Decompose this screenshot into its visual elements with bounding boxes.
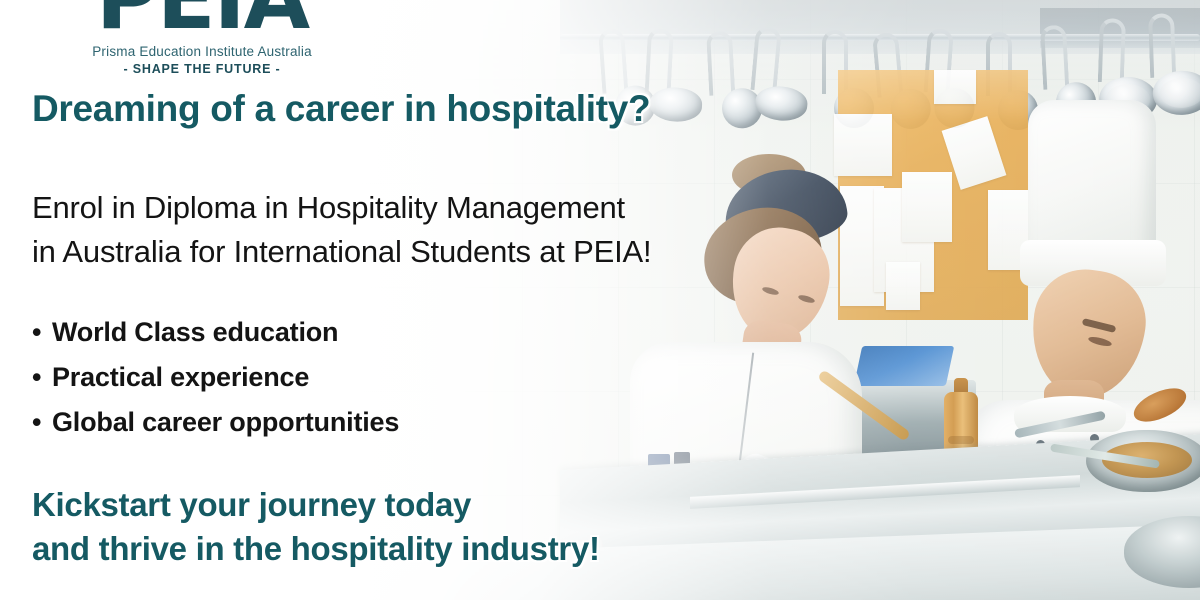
- logo-tagline: - SHAPE THE FUTURE -: [52, 62, 352, 76]
- cta-line-2: and thrive in the hospitality industry!: [32, 527, 600, 571]
- lede-line-2: in Australia for International Students …: [32, 230, 651, 274]
- promo-banner: PEIA Prisma Education Institute Australi…: [0, 0, 1200, 600]
- list-item: World Class education: [32, 310, 399, 355]
- cta-line-1: Kickstart your journey today: [32, 483, 600, 527]
- list-item: Practical experience: [32, 355, 399, 400]
- lede-text: Enrol in Diploma in Hospitality Manageme…: [32, 186, 651, 274]
- peia-logo: PEIA Prisma Education Institute Australi…: [52, 0, 352, 76]
- benefits-list: World Class education Practical experien…: [32, 310, 399, 444]
- page-title: Dreaming of a career in hospitality?: [32, 88, 650, 130]
- lede-line-1: Enrol in Diploma in Hospitality Manageme…: [32, 186, 651, 230]
- logo-wordmark: PEIA: [52, 0, 352, 42]
- banner-content: PEIA Prisma Education Institute Australi…: [0, 0, 1200, 600]
- logo-full-name: Prisma Education Institute Australia: [52, 44, 352, 59]
- call-to-action: Kickstart your journey today and thrive …: [32, 483, 600, 571]
- list-item: Global career opportunities: [32, 400, 399, 445]
